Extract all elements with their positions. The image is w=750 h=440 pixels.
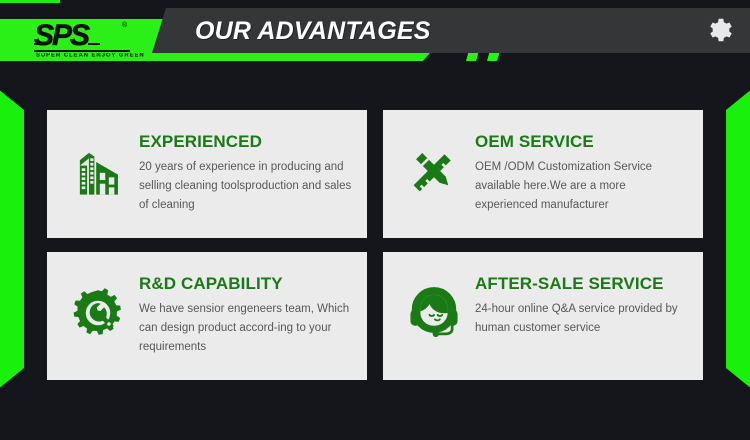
- advantage-card-grid: EXPERIENCED 20 years of experience in pr…: [47, 110, 703, 380]
- card-body: OEM SERVICE OEM /ODM Customization Servi…: [471, 124, 691, 215]
- card-body: AFTER-SALE SERVICE 24-hour online Q&A se…: [471, 266, 691, 338]
- card-text: 24-hour online Q&A service provided by h…: [475, 300, 691, 338]
- brand-logo: SPS ® SUPER CLEAN ENJOY GREEN: [30, 21, 148, 61]
- headset-operator-icon: [397, 276, 471, 350]
- page-title: OUR ADVANTAGES: [195, 17, 431, 46]
- factory-building-icon: [61, 134, 135, 208]
- logo-underline: [34, 50, 130, 52]
- left-green-side-bar: [0, 88, 24, 390]
- advantage-card-after-sale-service[interactable]: AFTER-SALE SERVICE 24-hour online Q&A se…: [383, 252, 703, 380]
- card-title: R&D CAPABILITY: [139, 274, 355, 294]
- card-text: 20 years of experience in producing and …: [139, 158, 355, 215]
- logo-registered-mark: ®: [122, 22, 127, 29]
- card-text: OEM /ODM Customization Service available…: [475, 158, 691, 215]
- advantage-card-rd-capability[interactable]: R&D CAPABILITY We have sensior engeneers…: [47, 252, 367, 380]
- advantage-card-oem-service[interactable]: OEM SERVICE OEM /ODM Customization Servi…: [383, 110, 703, 238]
- right-green-side-bar: [726, 88, 750, 390]
- advantages-banner-page: SPS ® SUPER CLEAN ENJOY GREEN OUR ADVANT…: [0, 0, 750, 440]
- card-text: We have sensior engeneers team, Which ca…: [139, 300, 355, 357]
- card-title: EXPERIENCED: [139, 132, 355, 152]
- logo-wordmark: SPS: [34, 21, 88, 51]
- card-body: R&D CAPABILITY We have sensior engeneers…: [135, 266, 355, 357]
- logo-tagline: SUPER CLEAN ENJOY GREEN: [36, 53, 145, 58]
- card-title: OEM SERVICE: [475, 132, 691, 152]
- card-title: AFTER-SALE SERVICE: [475, 274, 691, 294]
- card-body: EXPERIENCED 20 years of experience in pr…: [135, 124, 355, 215]
- pencil-ruler-icon: [397, 134, 471, 208]
- settings-gear-icon[interactable]: [706, 15, 736, 45]
- logo-dash-right: [88, 43, 100, 45]
- advantage-card-experienced[interactable]: EXPERIENCED 20 years of experience in pr…: [47, 110, 367, 238]
- gear-wrench-icon: [61, 276, 135, 350]
- header: SPS ® SUPER CLEAN ENJOY GREEN OUR ADVANT…: [0, 0, 750, 82]
